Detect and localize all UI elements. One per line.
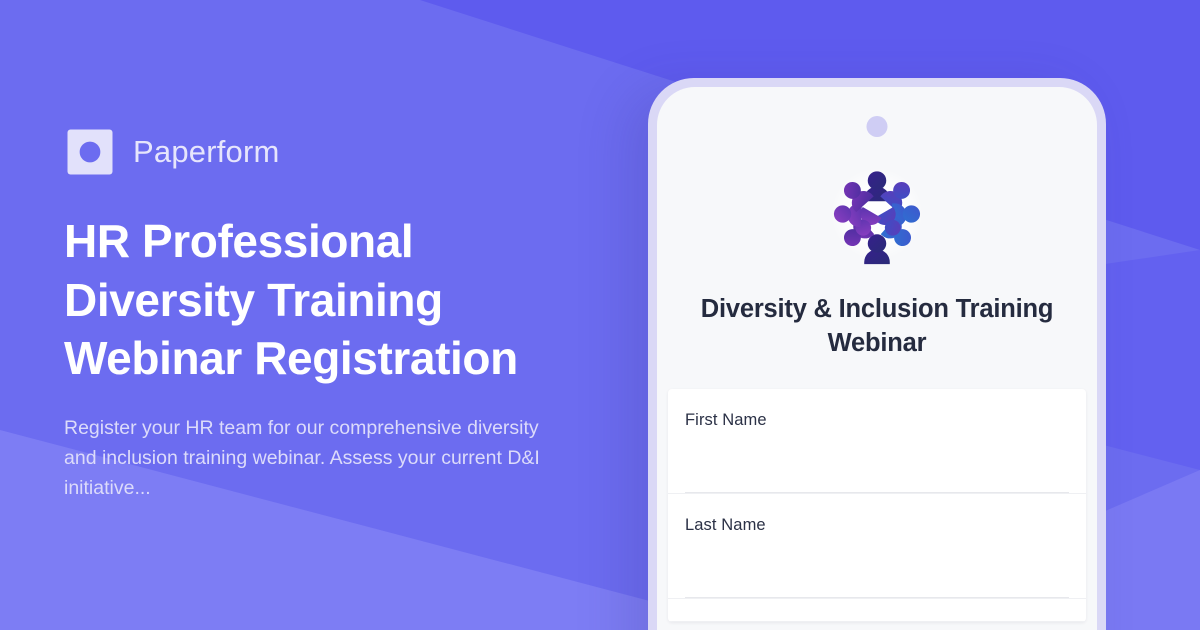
brand-name: Paperform [133,134,280,170]
social-share-card: Paperform HR Professional Diversity Trai… [0,0,1200,630]
brand-lockup: Paperform [64,126,624,178]
form-hero-image [657,155,1097,273]
diversity-people-circle-icon [818,155,936,273]
front-camera-dot-icon [867,116,888,137]
form-field-list: First Name Last Name [668,389,1086,622]
form-field-next[interactable] [668,599,1086,622]
paperform-star-logo-icon [64,126,116,178]
phone-mockup: Diversity & Inclusion Training Webinar F… [648,78,1106,630]
form-field-last-name[interactable]: Last Name [668,494,1086,599]
hero-description: Register your HR team for our comprehens… [64,413,544,504]
form-title: Diversity & Inclusion Training Webinar [657,293,1097,361]
phone-screen: Diversity & Inclusion Training Webinar F… [657,87,1097,630]
hero-text-column: Paperform HR Professional Diversity Trai… [64,0,624,630]
field-label: First Name [685,411,1069,430]
last-name-input[interactable] [685,535,1069,598]
field-label: Last Name [685,516,1069,535]
form-field-first-name[interactable]: First Name [668,389,1086,494]
page-title: HR Professional Diversity Training Webin… [64,212,604,387]
first-name-input[interactable] [685,430,1069,493]
